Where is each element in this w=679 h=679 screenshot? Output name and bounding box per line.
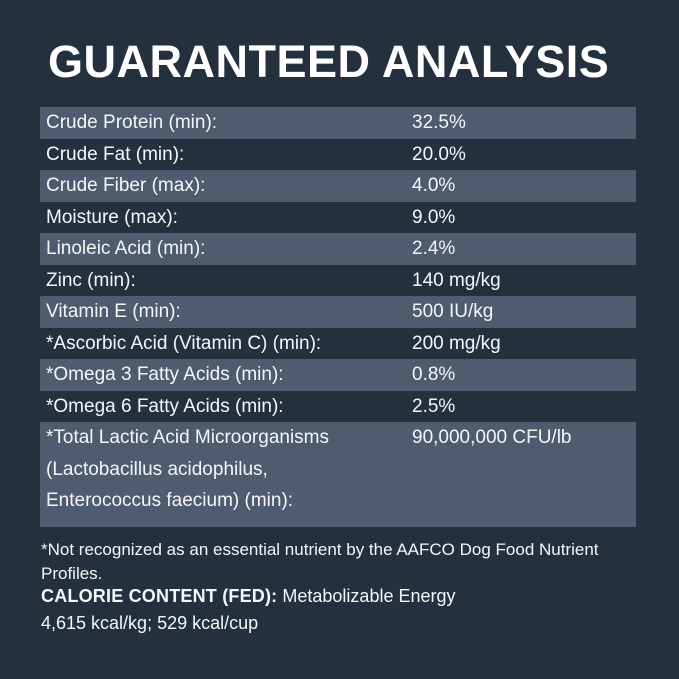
nutrient-label: Zinc (min): <box>40 265 412 297</box>
nutrient-label: Vitamin E (min): <box>40 296 412 328</box>
table-row: *Ascorbic Acid (Vitamin C) (min): 200 mg… <box>40 328 636 360</box>
calorie-values: 4,615 kcal/kg; 529 kcal/cup <box>41 613 258 633</box>
table-row: Linoleic Acid (min): 2.4% <box>40 233 636 265</box>
calorie-content-block: CALORIE CONTENT (FED): Metabolizable Ene… <box>41 583 641 637</box>
nutrient-label: Moisture (max): <box>40 202 412 234</box>
nutrient-label: Linoleic Acid (min): <box>40 233 412 265</box>
nutrient-amount: 0.8% <box>412 359 636 391</box>
nutrient-label: Crude Protein (min): <box>40 107 412 139</box>
table-body: Crude Protein (min): 32.5% Crude Fat (mi… <box>40 107 636 527</box>
calorie-content-label: CALORIE CONTENT (FED): <box>41 586 277 606</box>
footnote-text: *Not recognized as an essential nutrient… <box>41 538 641 586</box>
guaranteed-analysis-table: Crude Protein (min): 32.5% Crude Fat (mi… <box>40 107 636 527</box>
nutrient-amount: 500 IU/kg <box>412 296 636 328</box>
table-row: Crude Fat (min): 20.0% <box>40 139 636 171</box>
table-row: Zinc (min): 140 mg/kg <box>40 265 636 297</box>
table-row: Crude Fiber (max): 4.0% <box>40 170 636 202</box>
table-row: *Omega 6 Fatty Acids (min): 2.5% <box>40 391 636 423</box>
nutrient-label: Crude Fat (min): <box>40 139 412 171</box>
table-row: *Omega 3 Fatty Acids (min): 0.8% <box>40 359 636 391</box>
nutrient-amount: 90,000,000 CFU/lb <box>412 422 636 527</box>
nutrient-label: Crude Fiber (max): <box>40 170 412 202</box>
nutrient-amount: 2.4% <box>412 233 636 265</box>
calorie-energy-type: Metabolizable Energy <box>277 586 455 606</box>
table-row: *Total Lactic Acid Microorganisms (Lacto… <box>40 422 636 527</box>
table-row: Moisture (max): 9.0% <box>40 202 636 234</box>
nutrient-amount: 4.0% <box>412 170 636 202</box>
table-row: Crude Protein (min): 32.5% <box>40 107 636 139</box>
nutrient-amount: 9.0% <box>412 202 636 234</box>
nutrient-amount: 20.0% <box>412 139 636 171</box>
nutrient-label: *Total Lactic Acid Microorganisms (Lacto… <box>40 422 412 527</box>
nutrient-amount: 140 mg/kg <box>412 265 636 297</box>
nutrient-label: *Omega 6 Fatty Acids (min): <box>40 391 412 423</box>
table-row: Vitamin E (min): 500 IU/kg <box>40 296 636 328</box>
page-title: GUARANTEED ANALYSIS <box>48 36 638 88</box>
guaranteed-analysis-panel: GUARANTEED ANALYSIS Crude Protein (min):… <box>0 0 679 679</box>
nutrient-amount: 200 mg/kg <box>412 328 636 360</box>
nutrient-amount: 32.5% <box>412 107 636 139</box>
nutrient-amount: 2.5% <box>412 391 636 423</box>
nutrient-label: *Ascorbic Acid (Vitamin C) (min): <box>40 328 412 360</box>
nutrient-label: *Omega 3 Fatty Acids (min): <box>40 359 412 391</box>
